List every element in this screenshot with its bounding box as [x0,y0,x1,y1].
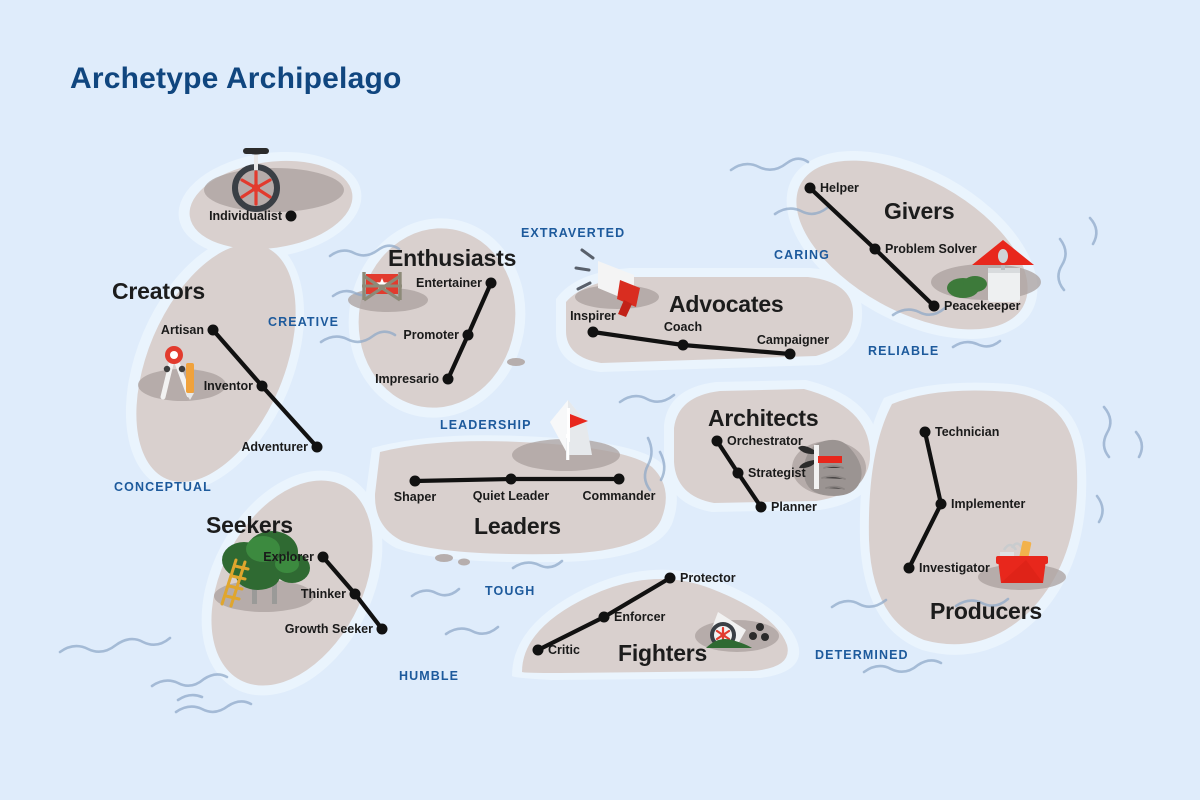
node-dot-growth-seeker[interactable] [377,624,388,635]
node-label-problem-solver: Problem Solver [885,242,977,256]
node-dot-impresario[interactable] [443,374,454,385]
node-dot-investigator[interactable] [904,563,915,574]
node-label-orchestrator: Orchestrator [727,434,803,448]
node-dot-planner[interactable] [756,502,767,513]
node-dot-strategist[interactable] [733,468,744,479]
node-dot-individualist[interactable] [286,211,297,222]
node-label-critic: Critic [548,643,580,657]
axis-label-leadership: LEADERSHIP [440,418,532,432]
island-title-givers: Givers [884,198,954,225]
connector-leaders [415,479,619,481]
island-title-architects: Architects [708,405,819,432]
island-title-fighters: Fighters [618,640,707,667]
axis-label-humble: HUMBLE [399,669,459,683]
island-title-leaders: Leaders [474,513,561,540]
node-label-enforcer: Enforcer [614,610,665,624]
node-label-entertainer: Entertainer [416,276,482,290]
node-dot-entertainer[interactable] [486,278,497,289]
node-dot-critic[interactable] [533,645,544,656]
node-label-shaper: Shaper [394,490,436,504]
node-label-strategist: Strategist [748,466,806,480]
node-label-thinker: Thinker [301,587,346,601]
node-label-explorer: Explorer [263,550,314,564]
node-dot-technician[interactable] [920,427,931,438]
node-label-investigator: Investigator [919,561,990,575]
axis-label-extraverted: EXTRAVERTED [521,226,625,240]
page-title: Archetype Archipelago [70,62,402,96]
node-label-coach: Coach [664,320,702,334]
node-label-quiet-leader: Quiet Leader [473,489,549,503]
axis-label-tough: TOUGH [485,584,535,598]
axis-label-conceptual: CONCEPTUAL [114,480,212,494]
axis-label-reliable: RELIABLE [868,344,939,358]
node-dot-coach[interactable] [678,340,689,351]
axis-label-caring: CARING [774,248,830,262]
node-label-impresario: Impresario [375,372,439,386]
node-dot-thinker[interactable] [350,589,361,600]
node-dot-inventor[interactable] [257,381,268,392]
node-label-promoter: Promoter [403,328,459,342]
archipelago-map-canvas: Archetype Archipelago EXTRAVERTED CARING… [0,0,1200,800]
node-label-inventor: Inventor [204,379,253,393]
island-title-creators: Creators [112,278,205,305]
node-label-protector: Protector [680,571,736,585]
node-dot-peacekeeper[interactable] [929,301,940,312]
island-title-advocates: Advocates [669,291,784,318]
node-label-campaigner: Campaigner [757,333,829,347]
node-label-peacekeeper: Peacekeeper [944,299,1020,313]
node-label-implementer: Implementer [951,497,1025,511]
node-label-adventurer: Adventurer [241,440,308,454]
node-dot-campaigner[interactable] [785,349,796,360]
node-dot-enforcer[interactable] [599,612,610,623]
node-dot-inspirer[interactable] [588,327,599,338]
node-label-inspirer: Inspirer [570,309,616,323]
island-title-producers: Producers [930,598,1042,625]
node-dot-commander[interactable] [614,474,625,485]
node-dot-explorer[interactable] [318,552,329,563]
axis-label-determined: DETERMINED [815,648,909,662]
island-title-enthusiasts: Enthusiasts [388,245,516,272]
axis-label-creative: CREATIVE [268,315,339,329]
map-svg [0,0,1200,800]
node-label-commander: Commander [583,489,656,503]
node-dot-artisan[interactable] [208,325,219,336]
node-dot-helper[interactable] [805,183,816,194]
island-title-seekers: Seekers [206,512,293,539]
node-dot-shaper[interactable] [410,476,421,487]
node-dot-orchestrator[interactable] [712,436,723,447]
node-dot-problem-solver[interactable] [870,244,881,255]
node-dot-protector[interactable] [665,573,676,584]
node-dot-promoter[interactable] [463,330,474,341]
node-label-planner: Planner [771,500,817,514]
node-label-individualist: Individualist [209,209,282,223]
node-label-growth-seeker: Growth Seeker [285,622,373,636]
node-dot-adventurer[interactable] [312,442,323,453]
node-label-technician: Technician [935,425,999,439]
node-dot-implementer[interactable] [936,499,947,510]
node-label-artisan: Artisan [161,323,204,337]
node-label-helper: Helper [820,181,859,195]
node-dot-quiet-leader[interactable] [506,474,517,485]
